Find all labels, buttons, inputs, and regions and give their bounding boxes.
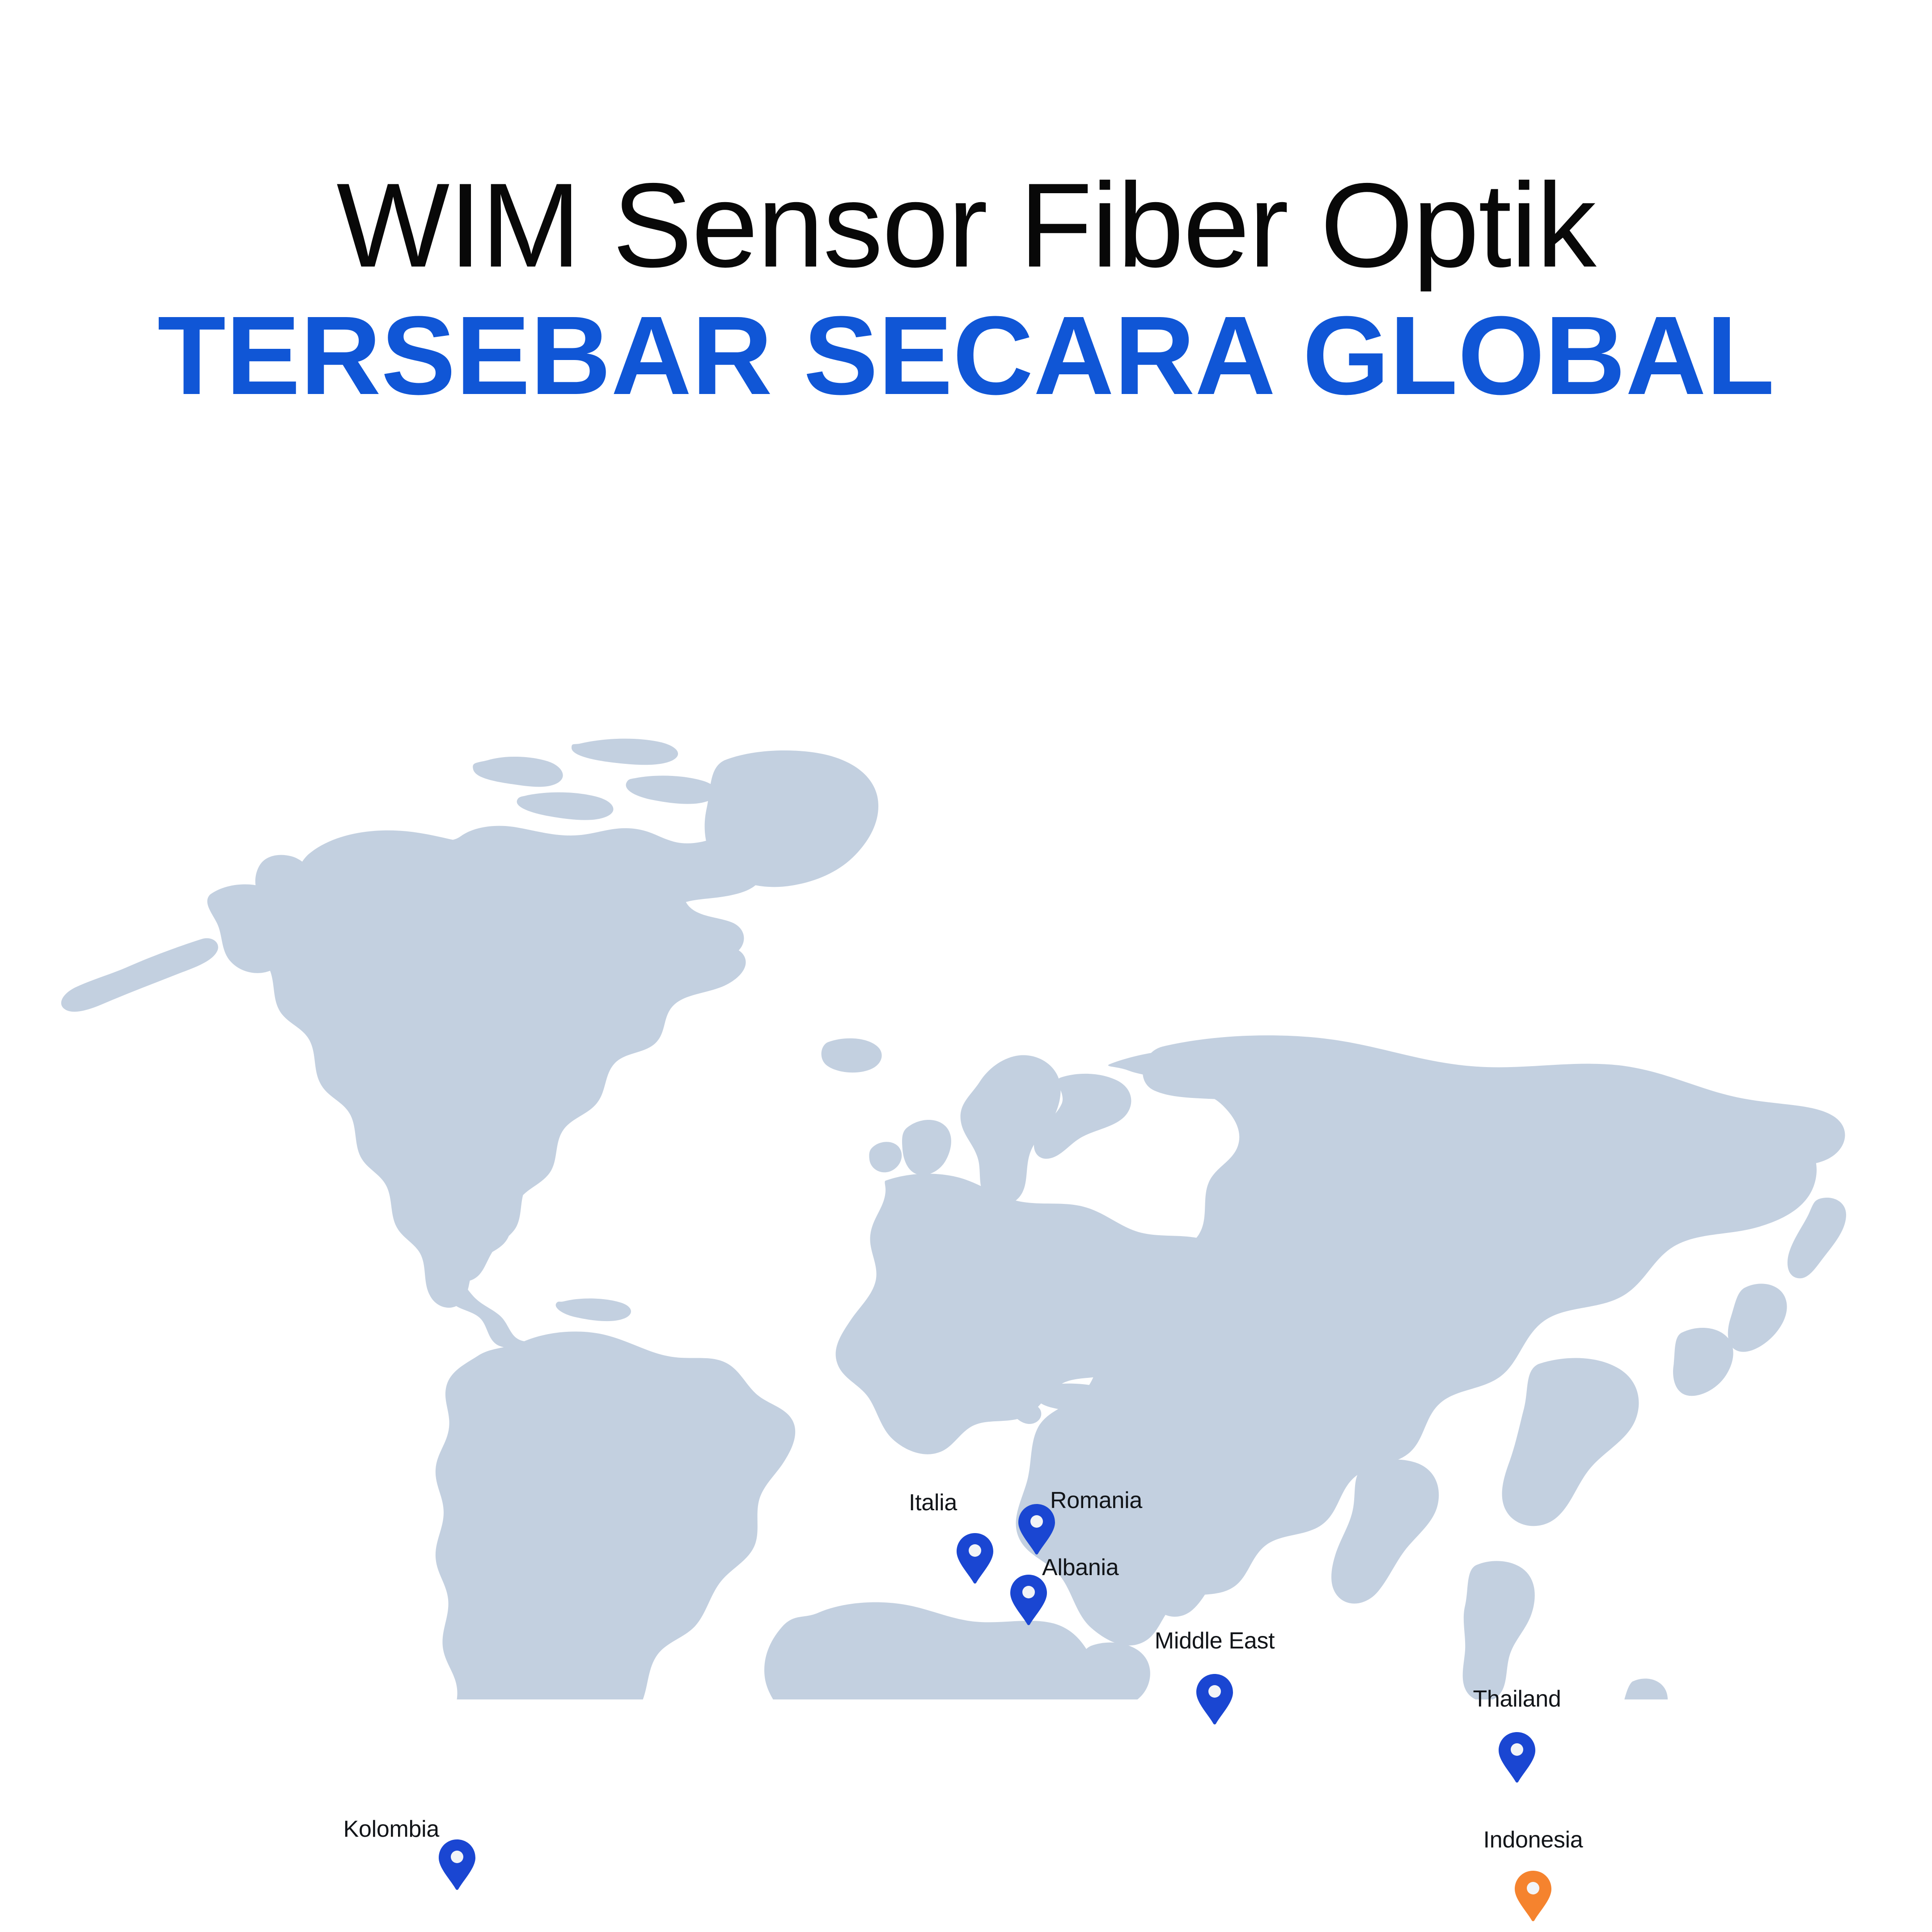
heading-block: WIM Sensor Fiber Optik TERSEBAR SECARA G… xyxy=(0,161,1932,421)
south-america xyxy=(436,1331,795,1699)
kamchatka xyxy=(1788,1198,1846,1278)
map-pin-icon xyxy=(438,1839,476,1891)
map-pin-icon xyxy=(1514,1870,1552,1923)
map-label-italia: Italia xyxy=(909,1491,957,1514)
map-label-kolombia: Kolombia xyxy=(343,1818,439,1841)
map-pin-italia[interactable] xyxy=(956,1532,994,1585)
poster-canvas: WIM Sensor Fiber Optik TERSEBAR SECARA G… xyxy=(0,0,1932,1932)
map-pin-icon xyxy=(1498,1731,1536,1784)
greenland xyxy=(705,750,878,887)
map-pin-icon xyxy=(1195,1673,1234,1726)
philippines xyxy=(1616,1678,1668,1699)
aleutian-islands xyxy=(61,938,218,1012)
map-pin-indonesia[interactable] xyxy=(1514,1870,1552,1923)
map-pin-middle-east[interactable] xyxy=(1195,1673,1234,1726)
map-pin-kolombia[interactable] xyxy=(438,1839,476,1891)
southeast-asia-peninsula xyxy=(1463,1561,1535,1699)
canadian-arctic-2 xyxy=(572,739,678,765)
iceland xyxy=(822,1038,882,1073)
north-america-body xyxy=(236,830,763,1308)
ireland xyxy=(869,1142,902,1172)
world-map-container: ItaliaRomaniaAlbaniaMiddle EastThailandI… xyxy=(0,626,1932,1699)
canadian-arctic-4 xyxy=(626,775,717,804)
page-title-primary: WIM Sensor Fiber Optik xyxy=(0,161,1932,289)
map-label-indonesia: Indonesia xyxy=(1483,1828,1583,1851)
caribbean-islands xyxy=(556,1298,631,1321)
map-pin-icon xyxy=(956,1532,994,1585)
map-pin-icon xyxy=(1009,1574,1048,1627)
map-label-middle-east: Middle East xyxy=(1155,1629,1275,1652)
map-pin-thailand[interactable] xyxy=(1498,1731,1536,1784)
page-title-secondary: TERSEBAR SECARA GLOBAL xyxy=(0,289,1932,421)
iberian-peninsula xyxy=(843,1318,912,1377)
canadian-arctic-1 xyxy=(473,757,563,787)
china-east-coast xyxy=(1502,1358,1639,1526)
horn-of-africa xyxy=(1080,1643,1150,1699)
map-pin-albania[interactable] xyxy=(1009,1574,1048,1627)
canadian-arctic-3 xyxy=(517,792,614,820)
korea-japan xyxy=(1673,1328,1733,1396)
british-isles xyxy=(902,1120,951,1175)
map-label-romania: Romania xyxy=(1050,1489,1142,1512)
map-label-albania: Albania xyxy=(1042,1556,1119,1579)
japan-islands xyxy=(1728,1284,1787,1352)
map-label-thailand: Thailand xyxy=(1473,1687,1561,1711)
